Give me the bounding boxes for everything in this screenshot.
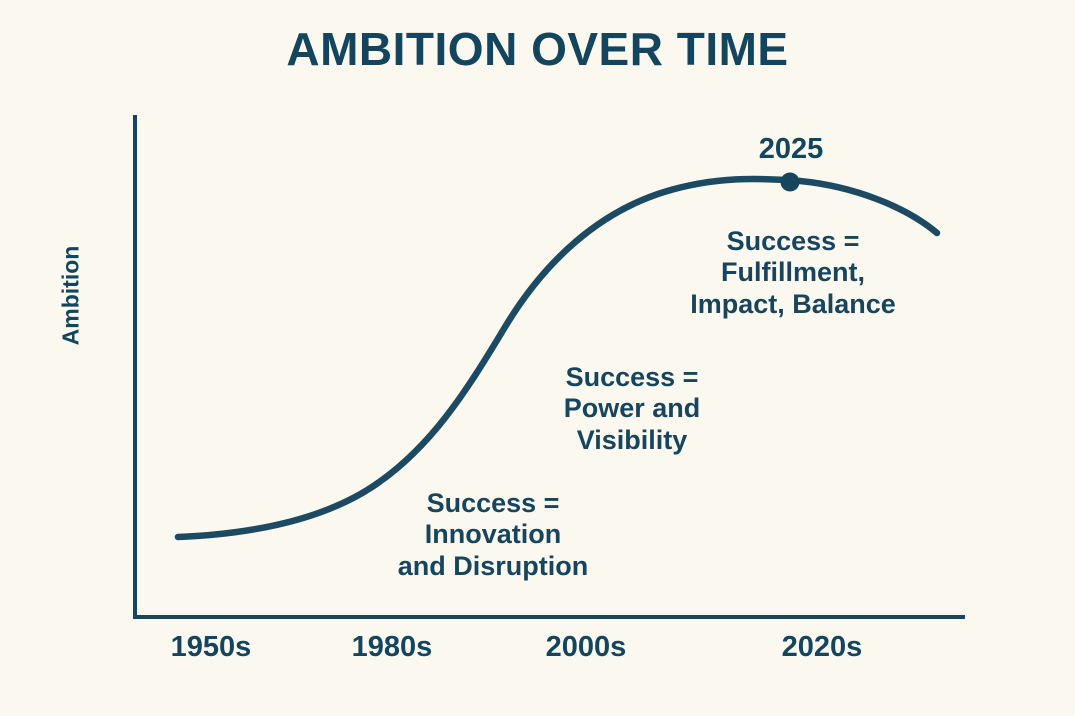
x-tick-label-1950s: 1950s <box>171 631 252 664</box>
peak-marker-2025 <box>781 173 800 192</box>
x-tick-label-2020s: 2020s <box>782 631 863 664</box>
peak-year-label: 2025 <box>759 133 824 166</box>
x-tick-label-2000s: 2000s <box>546 631 627 664</box>
annotation-innovation: Success = Innovation and Disruption <box>398 488 589 582</box>
chart-plot-area <box>0 0 1075 716</box>
annotation-power: Success = Power and Visibility <box>564 362 701 456</box>
chart-figure: AMBITION OVER TIME Ambition 1950s 1980s … <box>0 0 1075 716</box>
x-tick-label-1980s: 1980s <box>352 631 433 664</box>
y-axis-label: Ambition <box>58 226 85 366</box>
annotation-fulfillment: Success = Fulfillment, Impact, Balance <box>690 226 896 320</box>
